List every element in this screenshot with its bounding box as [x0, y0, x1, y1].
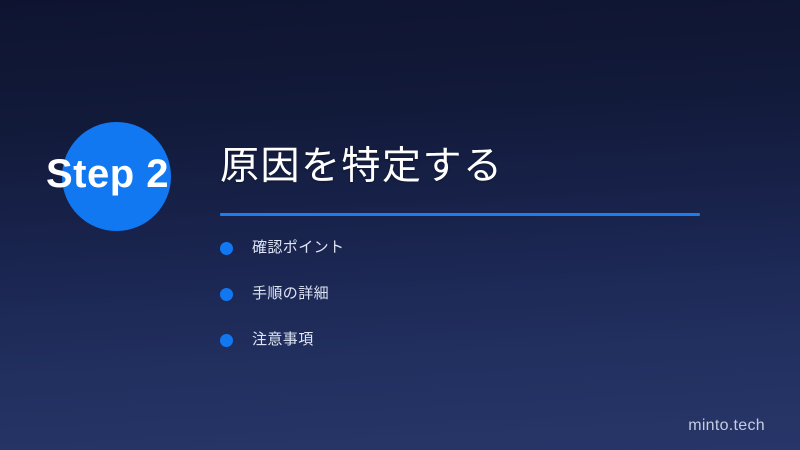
- list-item: 手順の詳細: [220, 284, 700, 304]
- bullet-list: 確認ポイント 手順の詳細 注意事項: [220, 238, 700, 376]
- bullet-dot-icon: [220, 288, 233, 301]
- step-label: Step 2: [46, 152, 206, 196]
- list-item-label: 手順の詳細: [252, 284, 329, 304]
- title-block: 原因を特定する: [220, 141, 740, 216]
- list-item: 確認ポイント: [220, 238, 700, 258]
- title-divider: [220, 213, 700, 216]
- footer-brand: minto.tech: [688, 416, 765, 436]
- bullet-dot-icon: [220, 242, 233, 255]
- slide-canvas: Step 2 原因を特定する 確認ポイント 手順の詳細 注意事項 minto.t…: [0, 0, 800, 450]
- list-item-label: 注意事項: [252, 330, 314, 350]
- bullet-dot-icon: [220, 334, 233, 347]
- page-title: 原因を特定する: [220, 141, 740, 193]
- list-item-label: 確認ポイント: [252, 238, 344, 258]
- list-item: 注意事項: [220, 330, 700, 350]
- step-badge: Step 2: [0, 0, 220, 450]
- step-circle-icon: [62, 122, 171, 231]
